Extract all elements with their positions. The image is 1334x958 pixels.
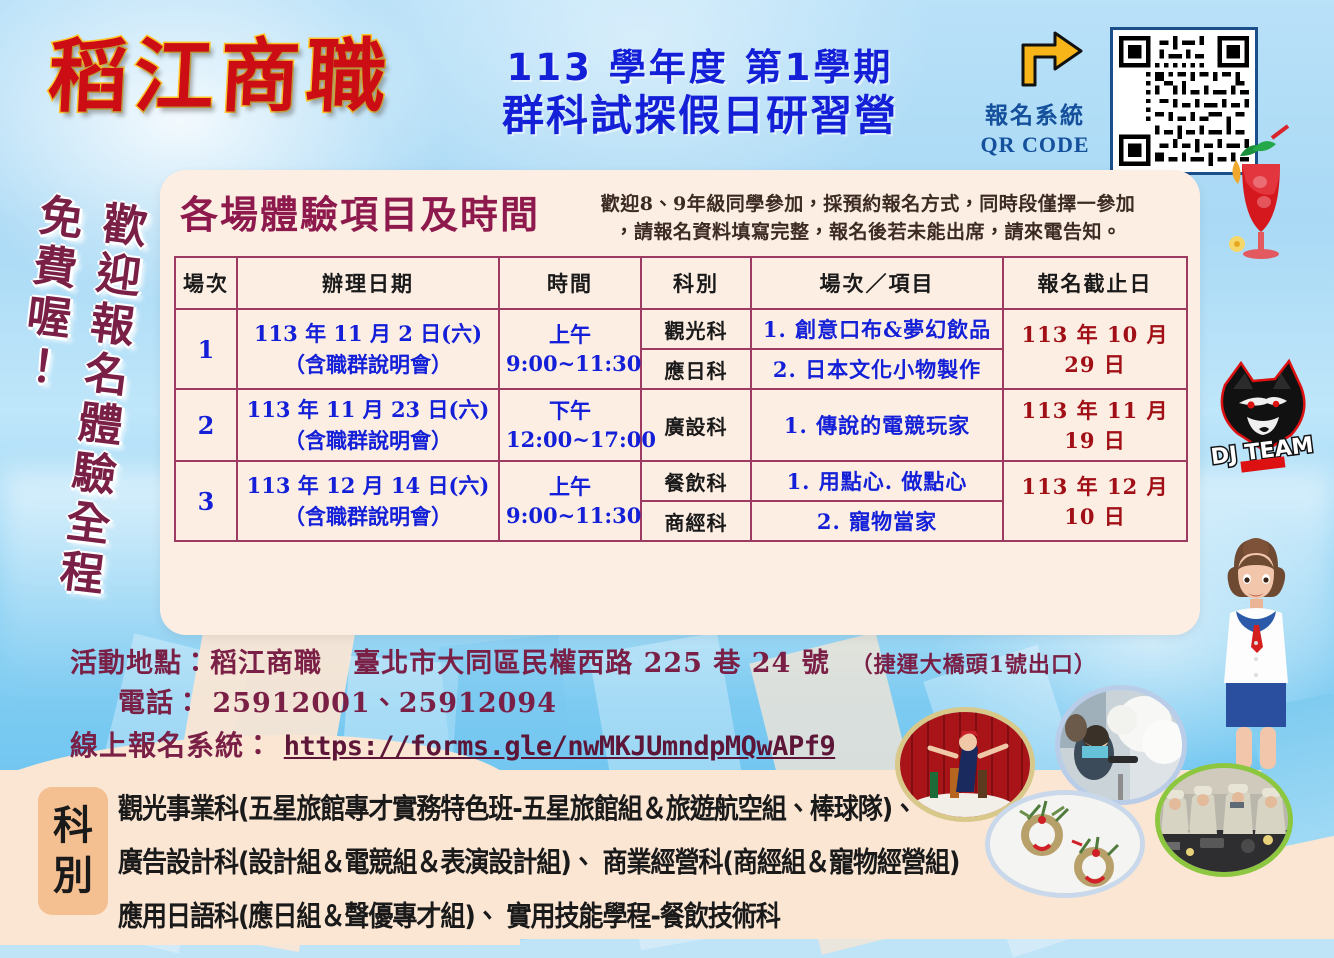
cell-deadline: 113 年 10 月 29 日 [1003, 309, 1187, 389]
cell-time-line2: 9:00~11:30 [506, 501, 634, 530]
column-header-date: 辦理日期 [237, 257, 499, 309]
cell-item: 2. 寵物當家 [751, 501, 1003, 541]
cell-time: 上午 9:00~11:30 [499, 309, 641, 389]
school-name: 稻江商職 [46, 34, 470, 118]
venue-label: 活動地點：稻江商職 [70, 648, 322, 679]
qr-label: 報名系統 QR CODE [970, 101, 1100, 159]
cell-date: 113 年 12 月 14 日(六) （含職群說明會） [237, 461, 499, 541]
card-note: 歡迎8、9年級同學參加，採預約報名方式，同時段僅擇一參加 ，請報名資料填寫完整，… [548, 190, 1188, 246]
phone-line: 電話： 25912001、25912094 [118, 684, 1200, 724]
event-title: 113 學年度 第1學期 群科試探假日研習營 [455, 45, 945, 141]
cell-date-line2: （含職群說明會） [244, 425, 492, 456]
card-note-line2: ，請報名資料填寫完整，報名後若未能出席，請來電告知。 [548, 218, 1188, 246]
cell-item: 2. 日本文化小物製作 [751, 349, 1003, 389]
japanese-wreath-craft-photo [990, 795, 1140, 893]
schedule-table: 場次 辦理日期 時間 科別 場次／項目 報名截止日 1 113 年 11 月 2… [174, 256, 1188, 542]
student-avatar-image [1192, 527, 1320, 780]
column-header-time: 時間 [499, 257, 641, 309]
cell-time-line1: 上午 [506, 320, 634, 349]
signup-url[interactable]: https://forms.gle/nwMKJUmndpMQwAPf9 [284, 731, 835, 762]
department-badge-line1: 科 [53, 801, 93, 851]
flair-bartending-photo [900, 712, 1030, 817]
cell-time: 上午 9:00~11:30 [499, 461, 641, 541]
cell-deadline: 113 年 12 月 10 日 [1003, 461, 1187, 541]
department-list-line: 廣告設計科(設計組＆電競組＆表演設計組)、 商業經營科(商經組＆寵物經營組) [118, 836, 968, 890]
cell-dept: 廣設科 [641, 389, 751, 461]
cell-time-line2: 9:00~11:30 [506, 349, 634, 378]
cell-session: 3 [175, 461, 237, 541]
qr-label-en: QR CODE [970, 130, 1100, 159]
department-list-line: 觀光事業科(五星旅館專才實務特色班-五星旅館組＆旅遊航空組、棒球隊)、 [118, 782, 968, 836]
venue-line: 活動地點：稻江商職 臺北市大同區民權西路 225 巷 24 號 （捷運大橋頭1號… [70, 645, 1200, 684]
cell-date-line2: （含職群說明會） [244, 501, 492, 532]
table-row: 3 113 年 12 月 14 日(六) （含職群說明會） 上午 9:00~11… [175, 461, 1187, 501]
dj-team-wolf-logo: DJ TEAM [1203, 355, 1323, 473]
cell-dept: 餐飲科 [641, 461, 751, 501]
table-header-row: 場次 辦理日期 時間 科別 場次／項目 報名截止日 [175, 257, 1187, 309]
cell-item: 1. 傳說的電競玩家 [751, 389, 1003, 461]
cell-date-line1: 113 年 12 月 14 日(六) [244, 470, 492, 501]
department-badge-line2: 別 [53, 851, 93, 901]
table-row: 2 113 年 11 月 23 日(六) （含職群說明會） 下午 12:00~1… [175, 389, 1187, 461]
cell-time-line2: 12:00~17:00 [506, 425, 634, 454]
cell-time-line1: 上午 [506, 472, 634, 501]
cell-deadline: 113 年 11 月 19 日 [1003, 389, 1187, 461]
pet-grooming-photo [1060, 690, 1182, 800]
card-note-line1: 歡迎8、9年級同學參加，採預約報名方式，同時段僅擇一參加 [548, 190, 1188, 218]
phone-number: 25912001、25912094 [212, 688, 557, 719]
column-header-deadline: 報名截止日 [1003, 257, 1187, 309]
schedule-card: 各場體驗項目及時間 歡迎8、9年級同學參加，採預約報名方式，同時段僅擇一參加 ，… [160, 170, 1200, 635]
cell-item: 1. 用點心. 做點心 [751, 461, 1003, 501]
signup-label: 線上報名系統： [70, 729, 273, 762]
signup-line: 線上報名系統： https://forms.gle/nwMKJUmndpMQwA… [70, 724, 1200, 769]
turn-right-arrow-icon [1015, 29, 1085, 87]
cell-date-line1: 113 年 11 月 2 日(六) [244, 318, 492, 349]
venue-address: 臺北市大同區民權西路 225 巷 24 號 [353, 648, 830, 679]
cell-time: 下午 12:00~17:00 [499, 389, 641, 461]
department-badge: 科 別 [38, 787, 108, 915]
column-header-dept: 科別 [641, 257, 751, 309]
card-title: 各場體驗項目及時間 [180, 184, 540, 239]
event-title-line2: 群科試探假日研習營 [455, 91, 945, 141]
cell-dept: 商經科 [641, 501, 751, 541]
cocktail-drink-image [1210, 120, 1310, 280]
phone-label: 電話： [118, 688, 202, 719]
event-title-line1: 113 學年度 第1學期 [455, 45, 945, 91]
cell-date: 113 年 11 月 23 日(六) （含職群說明會） [237, 389, 499, 461]
contact-info: 活動地點：稻江商職 臺北市大同區民權西路 225 巷 24 號 （捷運大橋頭1號… [70, 645, 1200, 769]
cell-session: 2 [175, 389, 237, 461]
cell-date-line2: （含職群說明會） [244, 349, 492, 380]
venue-metro: （捷運大橋頭1號出口） [851, 652, 1097, 678]
cell-dept: 應日科 [641, 349, 751, 389]
cell-time-line1: 下午 [506, 396, 634, 425]
table-row: 1 113 年 11 月 2 日(六) （含職群說明會） 上午 9:00~11:… [175, 309, 1187, 349]
cell-item: 1. 創意口布&夢幻飲品 [751, 309, 1003, 349]
cell-date-line1: 113 年 11 月 23 日(六) [244, 394, 492, 425]
column-header-item: 場次／項目 [751, 257, 1003, 309]
culinary-class-photo [1160, 768, 1288, 872]
cell-date: 113 年 11 月 2 日(六) （含職群說明會） [237, 309, 499, 389]
column-header-session: 場次 [175, 257, 237, 309]
qr-label-cn: 報名系統 [970, 101, 1100, 130]
cell-session: 1 [175, 309, 237, 389]
department-list-line: 應用日語科(應日組＆聲優專才組)、 實用技能學程-餐飲技術科 [118, 890, 968, 944]
cell-dept: 觀光科 [641, 309, 751, 349]
department-list: 觀光事業科(五星旅館專才實務特色班-五星旅館組＆旅遊航空組、棒球隊)、 廣告設計… [118, 782, 968, 943]
